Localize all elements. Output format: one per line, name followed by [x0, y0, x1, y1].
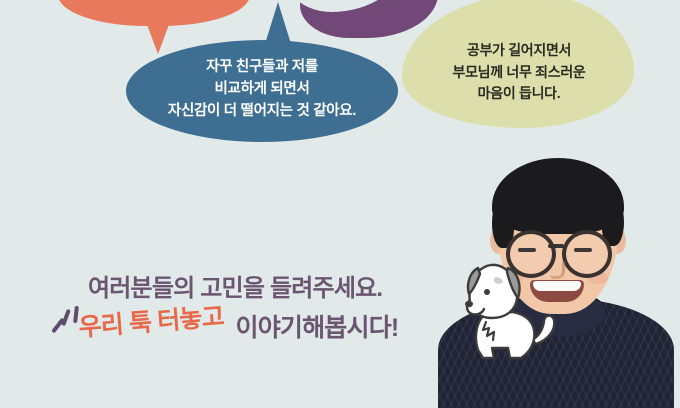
headline-rest-text: 이야기해봅시다! — [236, 308, 399, 344]
speech-bubble-orange-tail — [143, 14, 173, 54]
speech-bubble-blue-tail — [260, 2, 296, 60]
headline-accent-text: 우리 툭 터놓고 — [77, 297, 225, 344]
dog-nose — [465, 301, 473, 307]
cartoon-dog-icon — [450, 252, 570, 372]
speech-bubble-green-text: 공부가 길어지면서 부모님께 너무 죄스러운 마음이 듭니다. — [408, 40, 630, 105]
speech-bubble-blue-text: 자꾸 친구들과 저를 비교하게 되면서 자신감이 더 떨어지는 것 같아요. — [126, 57, 398, 122]
headline-line-2: 우리 툭 터놓고 이야기해봅시다! — [80, 308, 398, 344]
emphasis-dash-icon-2 — [61, 309, 71, 326]
eyeglass-bridge — [548, 244, 564, 248]
headline-line-1: 여러분들의 고민을 들려주세요. — [88, 268, 382, 303]
dog-eye — [484, 289, 490, 295]
poster-canvas: 공부가 길어지면서 부모님께 너무 죄스러운 마음이 듭니다. 자꾸 친구들과 … — [0, 0, 680, 408]
